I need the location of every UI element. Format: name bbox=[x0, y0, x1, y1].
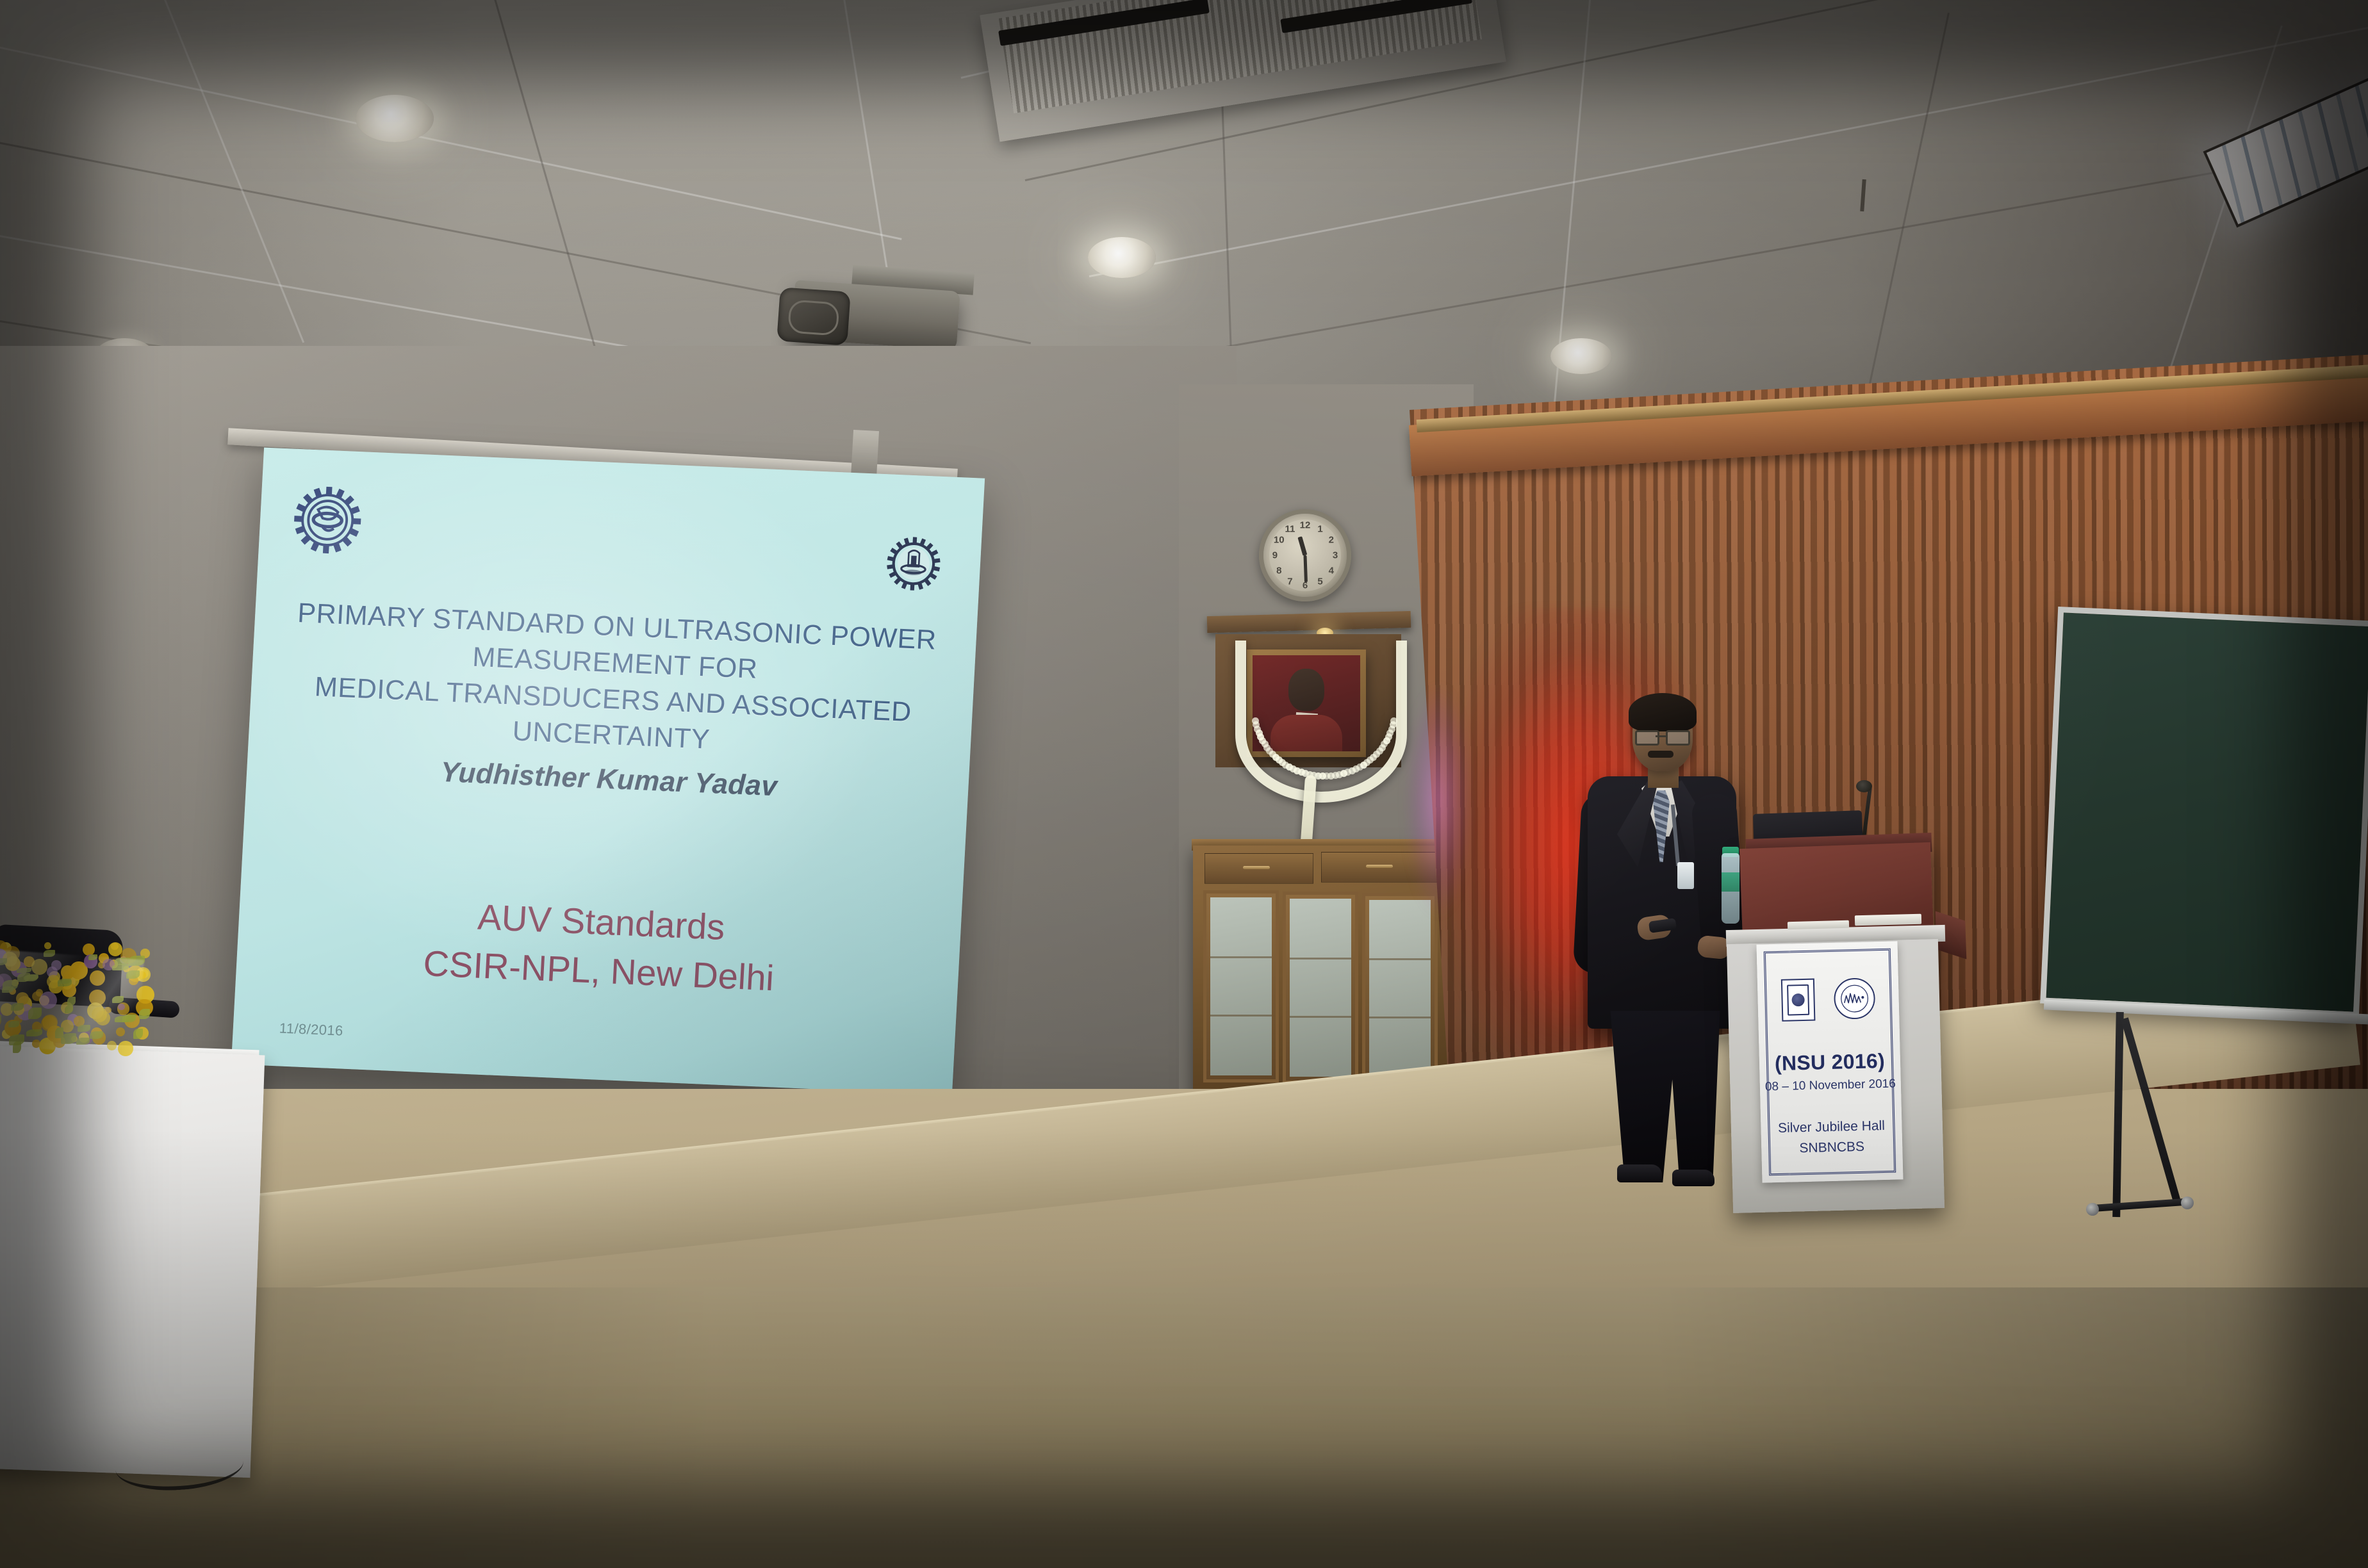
marigold-flower bbox=[116, 1027, 125, 1036]
garland-leaf bbox=[26, 1029, 42, 1036]
water-bottle-label bbox=[1722, 872, 1739, 892]
podium-paper-1[interactable] bbox=[1788, 920, 1849, 930]
slide-date: 11/8/2016 bbox=[279, 1020, 343, 1039]
marigold-garland-pile[interactable] bbox=[0, 940, 147, 1056]
marigold-flower bbox=[44, 942, 51, 949]
usi-wave-icon bbox=[1839, 983, 1870, 1014]
speaker-shoe-left bbox=[1617, 1164, 1662, 1182]
garland-leaf bbox=[126, 970, 140, 979]
sign-title: (NSU 2016) bbox=[1759, 1049, 1901, 1075]
marigold-flower bbox=[40, 992, 57, 1009]
downlight-1 bbox=[356, 95, 434, 142]
eyeglasses-lens-left bbox=[1635, 730, 1659, 746]
snbncbs-logo-inner bbox=[1787, 984, 1809, 1016]
sign-hall-line-2: SNBNCBS bbox=[1761, 1136, 1903, 1159]
speaker-hair bbox=[1629, 693, 1697, 731]
garland-leaf bbox=[13, 1041, 21, 1053]
chalkboard-caster-left bbox=[2086, 1203, 2099, 1216]
microphone-head[interactable] bbox=[1856, 780, 1872, 792]
projector-lens bbox=[777, 287, 851, 345]
slide-title: PRIMARY STANDARD ON ULTRASONIC POWER MEA… bbox=[281, 594, 948, 768]
garland-leaf bbox=[17, 968, 31, 973]
podium-paper-2[interactable] bbox=[1855, 914, 1921, 926]
csir-logo bbox=[284, 477, 372, 563]
projection-screen[interactable]: PRIMARY STANDARD ON ULTRASONIC POWER MEA… bbox=[231, 448, 985, 1095]
marigold-flower bbox=[42, 1015, 58, 1030]
marigold-flower bbox=[118, 1041, 133, 1056]
screen-rail-bracket bbox=[851, 430, 879, 478]
green-chalkboard[interactable] bbox=[2040, 607, 2368, 1018]
garland-leaf bbox=[112, 964, 129, 970]
garland-leaf bbox=[90, 1031, 104, 1039]
speaker-shoe-right bbox=[1672, 1170, 1714, 1186]
marigold-flower bbox=[95, 1011, 110, 1025]
speaker-moustache bbox=[1648, 751, 1673, 758]
ultrasonics-society-of-india-logo bbox=[1834, 977, 1876, 1020]
marigold-flower bbox=[31, 959, 47, 975]
downlight-2 bbox=[1088, 237, 1156, 278]
marigold-flower bbox=[90, 970, 105, 986]
sign-logo-row bbox=[1757, 974, 1900, 1024]
speaker-id-badge bbox=[1677, 862, 1694, 889]
garland-leaf bbox=[78, 1025, 90, 1032]
conference-hall-photo: PRIMARY STANDARD ON ULTRASONIC POWER MEA… bbox=[0, 0, 2368, 1568]
garland-leaf bbox=[128, 956, 145, 967]
garland-leaf bbox=[44, 950, 55, 957]
snbncbs-logo bbox=[1781, 979, 1816, 1022]
garland-leaf bbox=[61, 1033, 76, 1044]
garland-leaf bbox=[67, 997, 76, 1006]
garland-leaf bbox=[122, 1015, 135, 1022]
garland-leaf bbox=[65, 1006, 73, 1014]
garland-leaf bbox=[3, 980, 18, 990]
podium-sign: (NSU 2016) 08 – 10 November 2016 Silver … bbox=[1756, 941, 1903, 1182]
sign-hall: Silver Jubilee Hall SNBNCBS bbox=[1761, 1115, 1902, 1159]
eyeglasses-lens-right bbox=[1666, 730, 1690, 746]
table-cloth bbox=[0, 1046, 265, 1478]
marigold-flower bbox=[107, 1041, 117, 1050]
eyeglasses-bridge bbox=[1656, 735, 1666, 737]
sign-hall-line-1: Silver Jubilee Hall bbox=[1761, 1115, 1902, 1139]
floor-shading bbox=[0, 1287, 2368, 1568]
npl-india-logo bbox=[878, 529, 948, 598]
garland-leaf bbox=[8, 1021, 19, 1027]
chalkboard-caster-right bbox=[2181, 1196, 2194, 1209]
marigold-flower bbox=[118, 1004, 124, 1010]
downlight-3 bbox=[1550, 338, 1612, 374]
garland-leaf bbox=[28, 1008, 41, 1019]
